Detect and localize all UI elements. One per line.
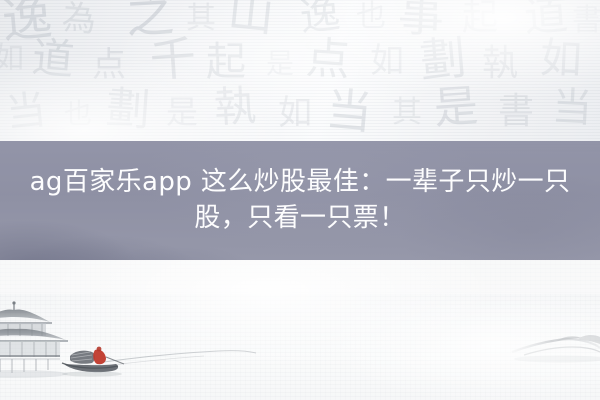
calligraphy-glyph: 是 bbox=[166, 96, 198, 128]
calligraphy-glyph: 劃 bbox=[105, 87, 152, 134]
calligraphy-glyph: 点 bbox=[92, 48, 126, 82]
calligraphy-glyph-layer: 逸 為 之 其 山 逸 也 事 起 道 書 如 道 点 千 起 是 点 如 劃 … bbox=[0, 0, 600, 152]
calligraphy-glyph: 為 bbox=[61, 1, 97, 37]
fishing-boat-icon bbox=[62, 347, 124, 377]
calligraphy-glyph: 執 bbox=[482, 46, 518, 82]
boat-wake-line-secondary bbox=[112, 356, 204, 365]
pavilion-icon bbox=[0, 301, 68, 378]
calligraphy-glyph: 也 bbox=[64, 100, 92, 128]
landscape-artwork bbox=[0, 260, 600, 400]
calligraphy-glyph: 事 bbox=[397, 0, 445, 39]
distant-shore bbox=[512, 335, 600, 363]
calligraphy-glyph: 也 bbox=[356, 2, 386, 32]
banner-text-block: ag百家乐app 这么炒股最佳：一辈子只炒一只 股，只看一只票！ bbox=[0, 141, 600, 260]
calligraphy-glyph: 其 bbox=[186, 4, 216, 34]
calligraphy-glyph: 当 bbox=[324, 86, 374, 136]
calligraphy-glyph: 是 bbox=[266, 50, 294, 78]
calligraphy-glyph: 山 bbox=[226, 0, 277, 38]
image-canvas: 逸 為 之 其 山 逸 也 事 起 道 書 如 道 点 千 起 是 点 如 劃 … bbox=[0, 0, 600, 400]
banner-title-line-2: 股，只看一只票！ bbox=[194, 204, 405, 233]
calligraphy-glyph: 逸 bbox=[0, 0, 54, 46]
ink-wash-landscape bbox=[0, 260, 600, 400]
calligraphy-glyph: 其 bbox=[392, 98, 422, 128]
calligraphy-glyph: 当 bbox=[4, 90, 48, 134]
calligraphy-glyph: 道 bbox=[523, 0, 570, 39]
banner-title-line-1: ag百家乐app 这么炒股最佳：一辈子只炒一只 bbox=[30, 168, 571, 197]
calligraphy-glyph: 如 bbox=[0, 44, 24, 74]
calligraphy-glyph: 道 bbox=[30, 36, 76, 82]
calligraphy-background-panel: 逸 為 之 其 山 逸 也 事 起 道 書 如 道 点 千 起 是 点 如 劃 … bbox=[0, 0, 600, 152]
calligraphy-glyph: 書 bbox=[498, 94, 534, 130]
calligraphy-glyph: 千 bbox=[148, 34, 197, 83]
calligraphy-glyph: 劃 bbox=[418, 34, 468, 84]
paper-light-bloom bbox=[0, 0, 600, 152]
boatman-red-robe bbox=[93, 349, 106, 364]
paper-texture-lines bbox=[0, 0, 600, 152]
calligraphy-glyph: 如 bbox=[370, 44, 404, 78]
calligraphy-glyph: 当 bbox=[551, 87, 593, 129]
calligraphy-glyph: 是 bbox=[433, 85, 480, 132]
calligraphy-glyph: 起 bbox=[206, 42, 246, 82]
calligraphy-glyph: 逸 bbox=[298, 0, 342, 38]
calligraphy-glyph: 如 bbox=[278, 96, 312, 130]
title-banner: ag百家乐app 这么炒股最佳：一辈子只炒一只 股，只看一只票！ bbox=[0, 141, 600, 260]
boat-wake-line bbox=[104, 351, 256, 362]
calligraphy-glyph: 執 bbox=[213, 85, 257, 129]
calligraphy-glyph: 如 bbox=[539, 37, 583, 81]
mist-band bbox=[0, 260, 600, 294]
calligraphy-glyph: 起 bbox=[462, 0, 498, 36]
calligraphy-glyph: 之 bbox=[125, 0, 175, 41]
calligraphy-glyph: 書 bbox=[572, 6, 600, 36]
calligraphy-glyph: 点 bbox=[305, 37, 352, 84]
